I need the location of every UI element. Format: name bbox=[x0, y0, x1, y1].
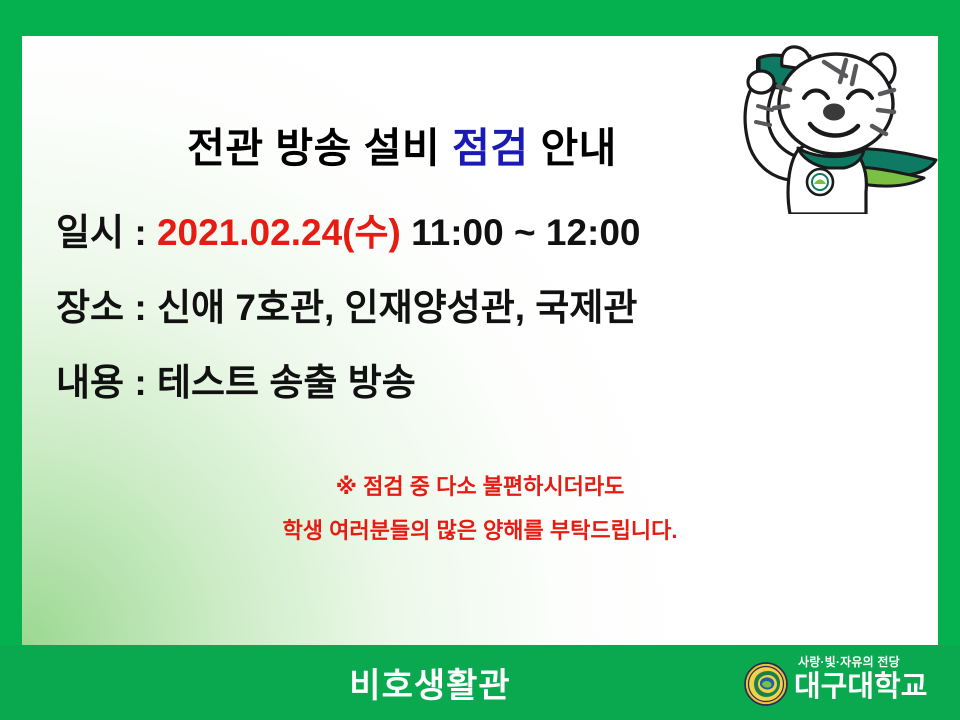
info-value-time: 11:00 ~ 12:00 bbox=[401, 212, 641, 253]
page-title: 전관 방송 설비 점검 안내 bbox=[22, 114, 782, 174]
content-panel: 전관 방송 설비 점검 안내 bbox=[22, 36, 938, 645]
info-line-location: 장소 : 신애 7호관, 인재양성관, 국제관 bbox=[56, 289, 896, 326]
tiger-mascot-icon bbox=[728, 36, 938, 214]
info-label-location: 장소 : 신애 7호관, 인재양성관, 국제관 bbox=[56, 287, 637, 328]
university-name: 대구대학교 bbox=[794, 672, 944, 702]
university-wordmark: 사랑·빛·자유의 전당 대구대학교 bbox=[794, 654, 944, 702]
university-logo: 사랑·빛·자유의 전당 대구대학교 bbox=[744, 654, 948, 710]
title-text-after: 안내 bbox=[529, 125, 617, 171]
info-value-date: 2021.02.24(수) bbox=[157, 212, 401, 253]
poster-root: 전관 방송 설비 점검 안내 bbox=[0, 0, 960, 720]
info-label-datetime: 일시 : bbox=[56, 212, 157, 253]
university-tagline: 사랑·빛·자유의 전당 bbox=[798, 656, 944, 668]
footer-bar: 비호생활관 사랑·빛·자유의 전당 대구대학교 bbox=[0, 645, 960, 720]
footnote: ※ 점검 중 다소 불편하시더라도 학생 여러분들의 많은 양해를 부탁드립니다… bbox=[22, 476, 938, 542]
info-line-content: 내용 : 테스트 송출 방송 bbox=[56, 364, 896, 401]
info-line-datetime: 일시 : 2021.02.24(수) 11:00 ~ 12:00 bbox=[56, 214, 896, 251]
university-seal-icon bbox=[744, 662, 788, 706]
info-label-content: 내용 : 테스트 송출 방송 bbox=[56, 362, 416, 403]
title-accent-word: 점검 bbox=[452, 125, 528, 171]
title-text-before: 전관 방송 설비 bbox=[187, 125, 452, 171]
footnote-line-2: 학생 여러분들의 많은 양해를 부탁드립니다. bbox=[22, 520, 938, 542]
footer-dorm-name: 비호생활관 bbox=[300, 658, 560, 707]
body-lines: 일시 : 2021.02.24(수) 11:00 ~ 12:00 장소 : 신애… bbox=[56, 214, 896, 439]
footnote-line-1: ※ 점검 중 다소 불편하시더라도 bbox=[22, 476, 938, 498]
